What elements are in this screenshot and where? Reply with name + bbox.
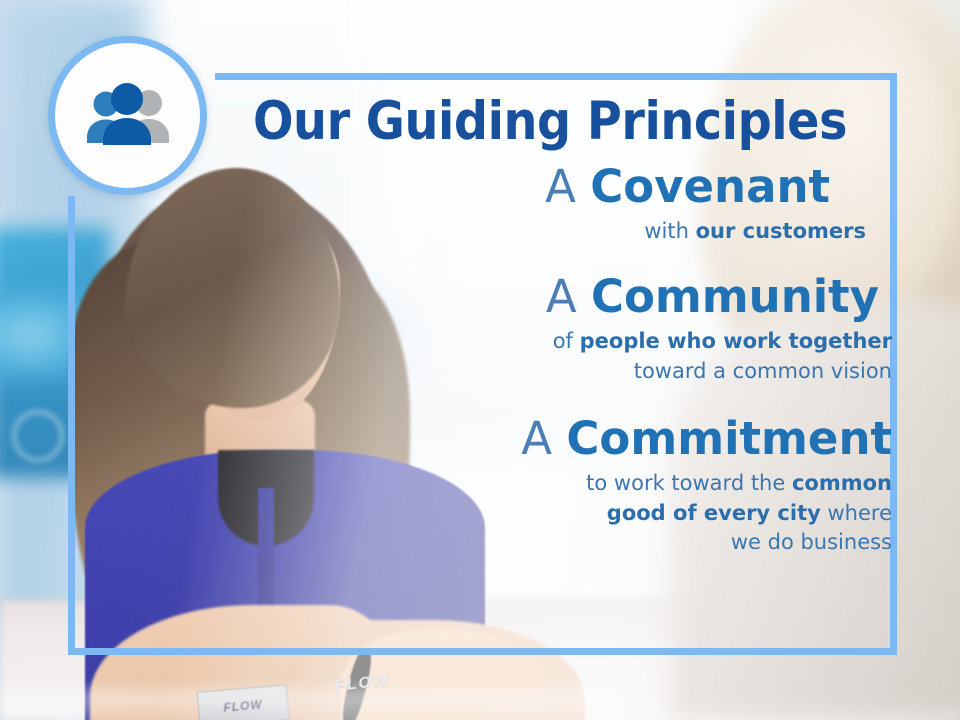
principle-community: A Community of people who work together … xyxy=(200,272,900,386)
principle-keyword: Covenant xyxy=(590,160,830,213)
principle-headline: A Covenant xyxy=(200,162,830,212)
subtext-segment-bold: people who work together xyxy=(580,329,892,353)
subtext-segment-bold: our customers xyxy=(696,219,866,243)
subtext-segment: of xyxy=(553,329,580,353)
principle-headline: A Commitment xyxy=(200,414,892,464)
principle-headline: A Community xyxy=(200,272,879,322)
subtext-segment: with xyxy=(644,219,695,243)
principle-keyword: Community xyxy=(591,270,879,323)
subtext-line: to work toward the common xyxy=(200,469,892,499)
subtext-line: good of every city where xyxy=(200,499,892,529)
principle-article: A xyxy=(521,412,552,465)
subtext-line: toward a common vision xyxy=(200,357,892,387)
subtext-line: we do business xyxy=(200,528,892,558)
principle-keyword: Commitment xyxy=(566,412,892,465)
guiding-principles-banner: FLOW FLOW xyxy=(0,0,960,720)
subtext-segment: to work toward the xyxy=(586,471,792,495)
subtext-line: with our customers xyxy=(200,217,866,247)
principle-subtext: of people who work together toward a com… xyxy=(200,327,892,387)
subtext-segment: where xyxy=(821,501,892,525)
principle-article: A xyxy=(546,270,577,323)
people-badge xyxy=(48,36,207,195)
principle-covenant: A Covenant with our customers xyxy=(200,162,900,246)
principle-subtext: to work toward the common good of every … xyxy=(200,469,892,558)
principle-commitment: A Commitment to work toward the common g… xyxy=(200,414,900,558)
group-of-people-icon xyxy=(81,81,175,151)
principle-subtext: with our customers xyxy=(200,217,866,247)
subtext-line: of people who work together xyxy=(200,327,892,357)
page-title: Our Guiding Principles xyxy=(235,94,865,150)
subtext-segment-bold: common xyxy=(792,471,892,495)
principle-article: A xyxy=(545,160,576,213)
text-content: Our Guiding Principles A Covenant with o… xyxy=(200,80,900,558)
subtext-segment-bold: good of every city xyxy=(607,501,821,525)
